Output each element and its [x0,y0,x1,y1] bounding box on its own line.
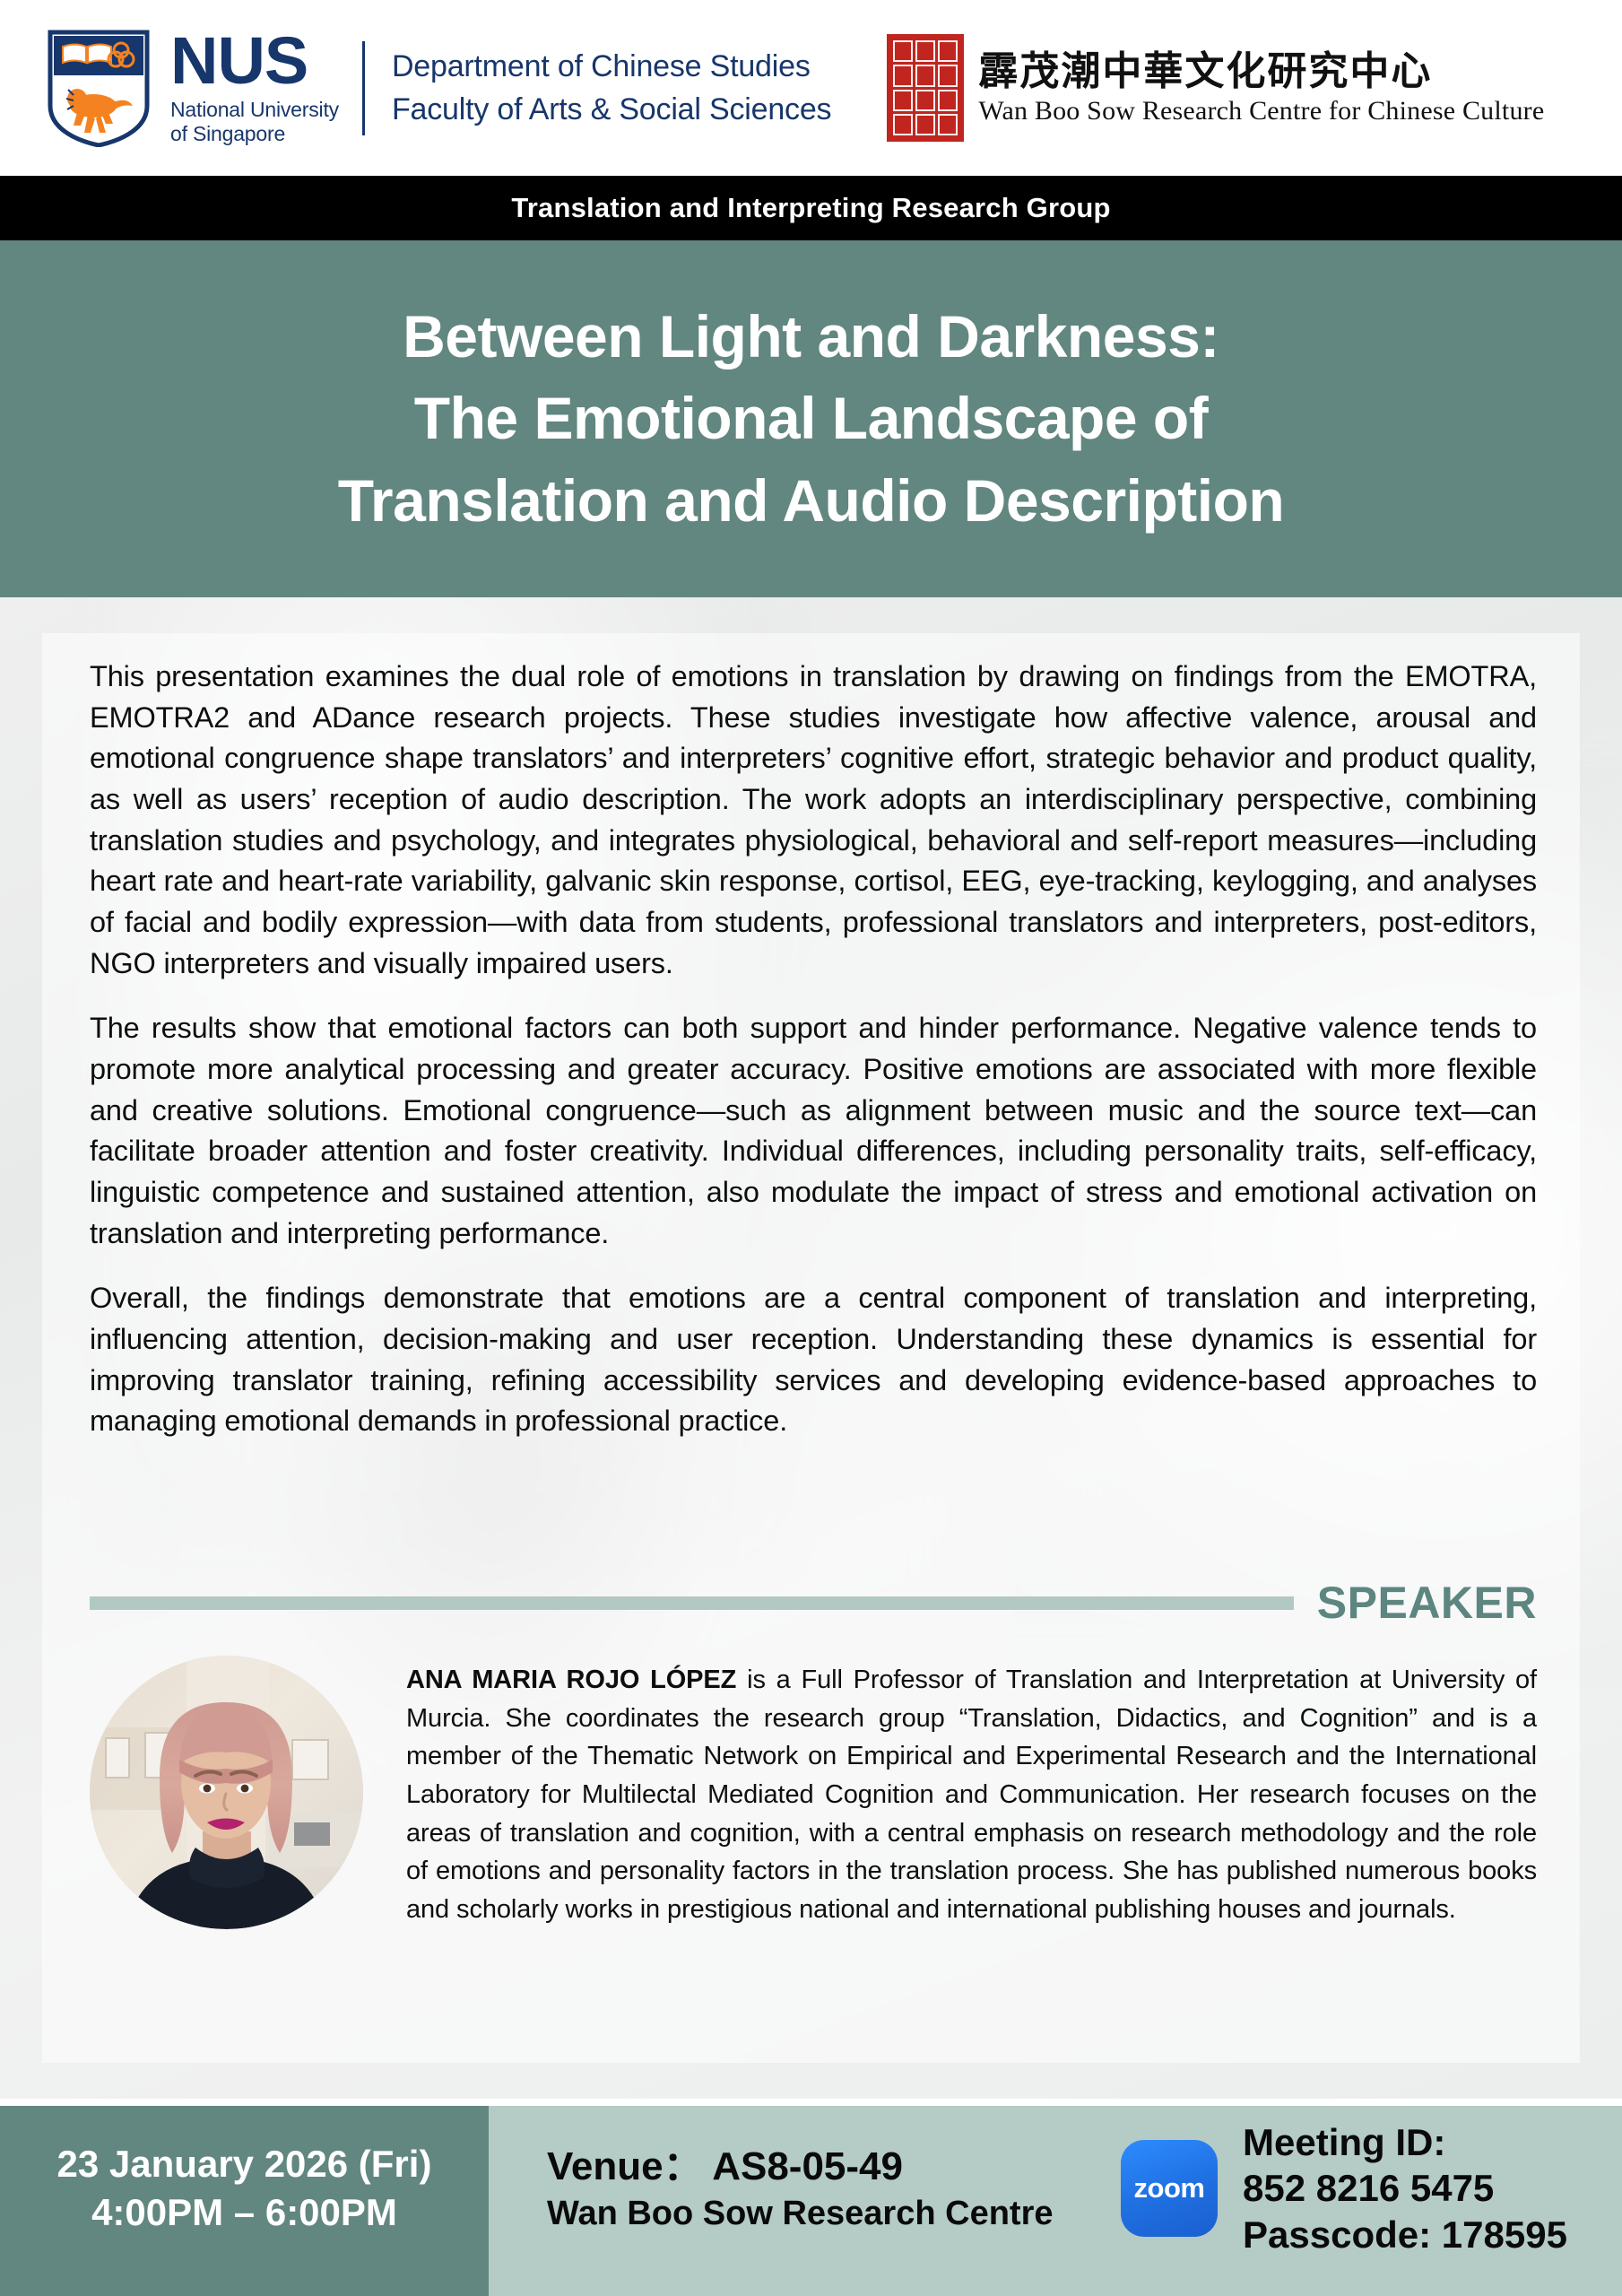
speaker-name: ANA MARIA ROJO LÓPEZ [406,1665,736,1694]
department-line: Department of Chinese Studies [392,45,831,88]
event-date: 23 January 2026 (Fri) [57,2140,432,2188]
nus-sub-line2: of Singapore [170,122,339,146]
nus-sub-line1: National University [170,98,339,122]
speaker-bio-text: is a Full Professor of Translation and I… [406,1665,1537,1924]
meeting-id-value: 852 8216 5475 [1243,2165,1567,2211]
research-group-bar: Translation and Interpreting Research Gr… [0,176,1622,240]
nus-acronym: NUS [170,30,339,92]
meeting-passcode: Passcode: 178595 [1243,2212,1567,2257]
research-group-label: Translation and Interpreting Research Gr… [511,192,1110,224]
wbs-chinese-name: 霹茂潮中華文化研究中心 [978,49,1544,93]
abstract-text: This presentation examines the dual role… [90,657,1537,1442]
wbs-english-name: Wan Boo Sow Research Centre for Chinese … [978,96,1544,126]
speaker-section-header: SPEAKER [90,1578,1537,1628]
department-names: Department of Chinese Studies Faculty of… [392,45,831,132]
venue-room: Venue： AS8-05-49 [547,2141,1121,2192]
venue-centre: Wan Boo Sow Research Centre [547,2192,1121,2236]
abstract-paragraph: Overall, the findings demonstrate that e… [90,1278,1537,1442]
speaker-bio: ANA MARIA ROJO LÓPEZ is a Full Professor… [406,1656,1537,1929]
body-area: This presentation examines the dual role… [0,597,1622,2099]
abstract-paragraph: This presentation examines the dual role… [90,657,1537,984]
page-title-line1: Between Light and Darkness: [403,296,1219,378]
meeting-details: Meeting ID: 852 8216 5475 Passcode: 1785… [1243,2119,1567,2257]
footer-venue-zoom: Venue： AS8-05-49 Wan Boo Sow Research Ce… [489,2106,1622,2296]
footer-datetime: 23 January 2026 (Fri) 4:00PM – 6:00PM [0,2106,489,2296]
zoom-icon[interactable]: zoom [1121,2140,1218,2237]
abstract-paragraph: The results show that emotional factors … [90,1008,1537,1254]
faculty-line: Faculty of Arts & Social Sciences [392,88,831,131]
nus-logo-block: NUS National University of Singapore [47,29,339,147]
nus-shield-icon [47,29,151,147]
speaker-block: ANA MARIA ROJO LÓPEZ is a Full Professor… [90,1656,1537,1929]
nus-wordmark: NUS National University of Singapore [170,30,339,146]
speaker-avatar [90,1656,363,1929]
page-title-line2: The Emotional Landscape of [414,378,1208,459]
footer: 23 January 2026 (Fri) 4:00PM – 6:00PM Ve… [0,2106,1622,2296]
wan-boo-sow-logo-block: 霹茂潮中華文化研究中心 Wan Boo Sow Research Centre … [887,34,1544,142]
header-divider [362,41,365,135]
meeting-id-label: Meeting ID: [1243,2119,1567,2165]
title-band: Between Light and Darkness: The Emotiona… [0,240,1622,597]
venue-block: Venue： AS8-05-49 Wan Boo Sow Research Ce… [547,2141,1121,2237]
logo-header: NUS National University of Singapore Dep… [0,0,1622,176]
chinese-seal-icon [887,34,964,142]
poster-root: NUS National University of Singapore Dep… [0,0,1622,2296]
event-time: 4:00PM – 6:00PM [91,2188,397,2237]
zoom-wordmark: zoom [1134,2172,1205,2205]
speaker-divider-rule [90,1596,1294,1610]
speaker-section-label: SPEAKER [1317,1577,1537,1629]
page-title-line3: Translation and Audio Description [338,460,1284,542]
